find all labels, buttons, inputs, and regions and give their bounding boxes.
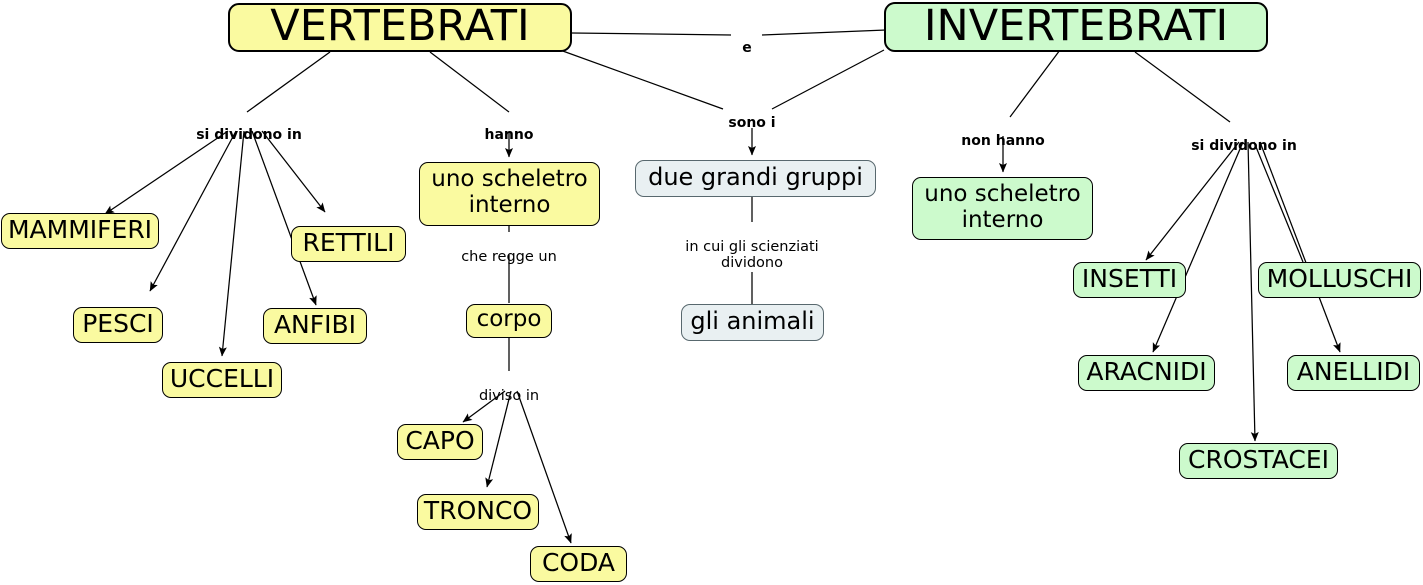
link-label-che-regge-un-text: che regge un — [461, 249, 557, 265]
node-mammiferi-label: MAMMIFERI — [8, 216, 152, 244]
concept-map-canvas: VERTEBRATI INVERTEBRATI MAMMIFERI PESCI … — [0, 0, 1423, 585]
node-corpo-label: corpo — [477, 307, 542, 333]
edge-vertebrati-e — [572, 33, 731, 35]
link-label-si-dividono-in-vertebrati: si dividono in — [160, 112, 338, 144]
node-rettili-label: RETTILI — [303, 229, 395, 257]
link-label-in-cui-gli-scienziati-dividono-text: in cui gli scienziati dividono — [685, 239, 818, 272]
link-label-hanno-text: hanno — [485, 127, 534, 143]
node-tronco-label: TRONCO — [424, 497, 532, 525]
node-due-grandi-gruppi[interactable]: due grandi gruppi — [635, 160, 876, 197]
node-aracnidi[interactable]: ARACNIDI — [1078, 355, 1215, 391]
node-crostacei-label: CROSTACEI — [1188, 446, 1329, 474]
edge-sdi-insetti — [1146, 142, 1239, 260]
link-label-e-text: e — [742, 40, 752, 56]
edge-sdi-molluschi — [1254, 142, 1303, 262]
edge-sd-anfibi — [252, 131, 316, 305]
node-scheletro-interno-invertebrati-label: uno scheletro interno — [924, 182, 1080, 234]
node-anfibi[interactable]: ANFIBI — [263, 308, 367, 344]
edge-di-tronco — [487, 391, 511, 487]
link-label-hanno: hanno — [459, 112, 559, 144]
node-insetti[interactable]: INSETTI — [1073, 262, 1186, 298]
link-label-si-dividono-in-vertebrati-text: si dividono in — [196, 127, 302, 143]
node-coda[interactable]: CODA — [530, 546, 627, 582]
node-coda-label: CODA — [542, 549, 615, 577]
edge-sd-uccelli — [222, 131, 244, 356]
link-label-si-dividono-in-invertebrati-text: si dividono in — [1191, 138, 1297, 154]
link-label-sono-i: sono i — [702, 100, 802, 132]
node-scheletro-interno-vertebrati[interactable]: uno scheletro interno — [419, 162, 600, 226]
node-tronco[interactable]: TRONCO — [417, 494, 539, 530]
node-scheletro-interno-invertebrati[interactable]: uno scheletro interno — [912, 177, 1093, 240]
node-gli-animali[interactable]: gli animali — [681, 304, 824, 341]
link-label-e: e — [731, 25, 763, 57]
edge-sdi-anellidi — [1260, 142, 1340, 352]
edge-layer — [0, 0, 1423, 585]
edge-sdi-crostacei — [1248, 142, 1255, 441]
node-gli-animali-label: gli animali — [690, 308, 814, 335]
link-label-che-regge-un: che regge un — [438, 232, 580, 265]
node-anellidi-label: ANELLIDI — [1297, 358, 1410, 386]
link-label-in-cui-gli-scienziati-dividono: in cui gli scienziati dividono — [652, 222, 852, 272]
edge-vertebrati-hanno — [430, 52, 509, 112]
link-label-sono-i-text: sono i — [728, 115, 775, 131]
node-anfibi-label: ANFIBI — [274, 311, 356, 339]
node-uccelli-label: UCCELLI — [170, 365, 274, 393]
link-label-diviso-in: diviso in — [458, 371, 560, 404]
node-vertebrati[interactable]: VERTEBRATI — [228, 3, 572, 52]
node-scheletro-interno-vertebrati-label: uno scheletro interno — [431, 167, 587, 219]
link-label-si-dividono-in-invertebrati: si dividono in — [1155, 123, 1333, 155]
link-label-non-hanno: non hanno — [943, 118, 1063, 150]
node-invertebrati[interactable]: INVERTEBRATI — [884, 2, 1268, 52]
node-due-grandi-gruppi-label: due grandi gruppi — [648, 164, 863, 191]
node-rettili[interactable]: RETTILI — [291, 226, 406, 262]
link-label-non-hanno-text: non hanno — [961, 133, 1044, 149]
node-mammiferi[interactable]: MAMMIFERI — [1, 213, 159, 249]
node-crostacei[interactable]: CROSTACEI — [1179, 443, 1338, 479]
edge-sdi-aracnidi — [1153, 142, 1243, 352]
node-capo-label: CAPO — [405, 427, 474, 455]
node-anellidi[interactable]: ANELLIDI — [1287, 355, 1420, 391]
node-molluschi[interactable]: MOLLUSCHI — [1258, 262, 1421, 298]
node-corpo[interactable]: corpo — [466, 304, 552, 338]
node-pesci[interactable]: PESCI — [73, 307, 163, 343]
edge-vertebrati-sidividonoin — [247, 52, 330, 112]
edge-invertebrati-sidividonoin — [1135, 52, 1230, 122]
node-pesci-label: PESCI — [82, 310, 154, 338]
node-uccelli[interactable]: UCCELLI — [162, 362, 282, 398]
edge-e-invertebrati — [762, 30, 886, 35]
link-label-diviso-in-text: diviso in — [479, 388, 539, 404]
node-insetti-label: INSETTI — [1082, 265, 1177, 293]
node-invertebrati-label: INVERTEBRATI — [924, 2, 1228, 50]
node-vertebrati-label: VERTEBRATI — [270, 2, 529, 50]
edge-vertebrati-sonoi — [560, 50, 723, 109]
edge-invertebrati-nonhanno — [1010, 50, 1060, 117]
node-molluschi-label: MOLLUSCHI — [1267, 265, 1413, 293]
node-capo[interactable]: CAPO — [397, 424, 483, 460]
node-aracnidi-label: ARACNIDI — [1086, 358, 1206, 386]
